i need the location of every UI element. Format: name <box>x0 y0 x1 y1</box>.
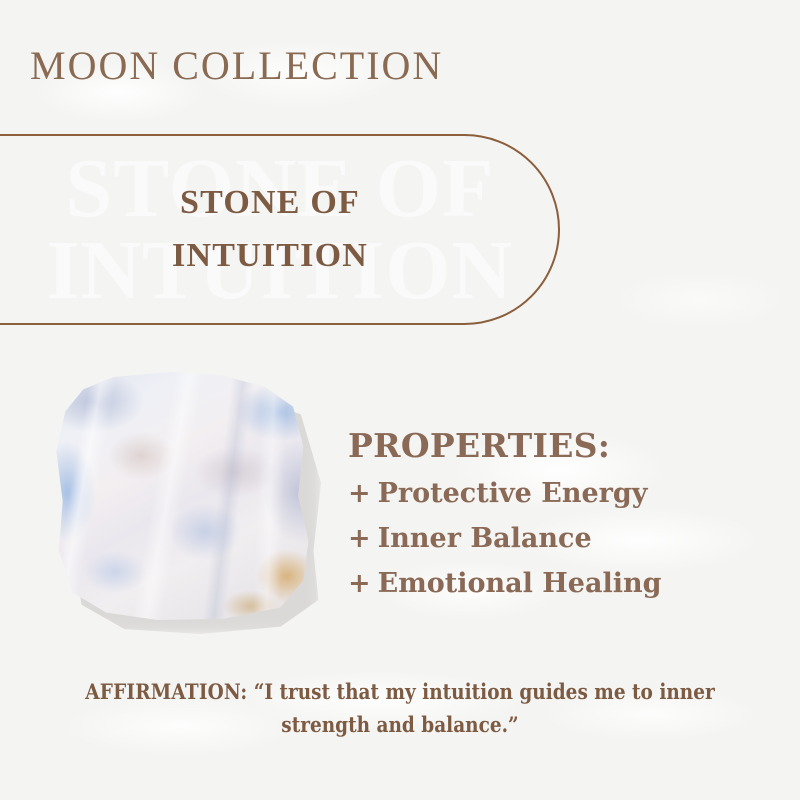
stone-title: STONE OF INTUITION <box>0 134 540 325</box>
collection-title: MOON COLLECTION <box>30 44 443 88</box>
property-item: +Emotional Healing <box>348 570 768 597</box>
plus-icon: + <box>348 480 371 507</box>
moonstone-striations <box>55 372 311 620</box>
affirmation-section: AFFIRMATION: “I trust that my intuition … <box>74 676 725 741</box>
property-label: Emotional Healing <box>378 568 662 599</box>
property-item: +Protective Energy <box>348 480 768 507</box>
stone-title-line-1: STONE OF <box>180 177 360 230</box>
crystal-info-card: MOON COLLECTION STONE OF INTUITION STONE… <box>0 0 800 800</box>
moonstone-body <box>55 372 311 620</box>
stone-title-line-2: INTUITION <box>172 230 368 283</box>
plus-icon: + <box>348 525 371 552</box>
affirmation-quote: “I trust that my intuition guides me to … <box>247 679 714 737</box>
moonstone-image <box>55 372 325 637</box>
properties-section: PROPERTIES: +Protective Energy +Inner Ba… <box>348 428 768 615</box>
property-label: Protective Energy <box>378 478 648 509</box>
property-label: Inner Balance <box>378 523 592 554</box>
affirmation-label: AFFIRMATION: <box>85 679 247 704</box>
plus-icon: + <box>348 570 371 597</box>
properties-heading: PROPERTIES: <box>348 428 768 464</box>
property-item: +Inner Balance <box>348 525 768 552</box>
